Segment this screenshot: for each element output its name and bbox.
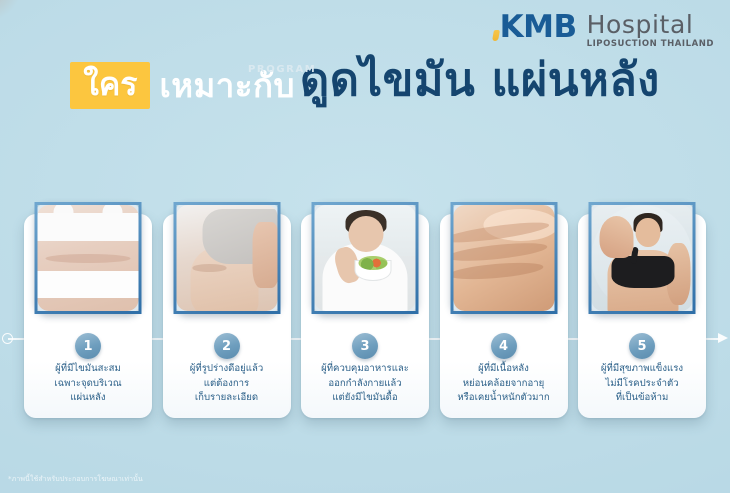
card-photo-frame (589, 202, 696, 314)
card-text: ผู้ที่มีเนื้อหลัง หย่อนคล้อยจากอายุ หรือ… (448, 362, 560, 406)
card-text-line: ผู้ที่มีไขมันสะสม (34, 362, 142, 377)
step-badge: 4 (491, 333, 517, 359)
headline-line-2: ดูดไขมัน แผ่นหลัง (300, 53, 660, 106)
card-text-line: ผู้ที่ควบคุมอาหารและ (311, 362, 419, 377)
page-title: ใคร เหมาะกับ PROGRAM ดูดไขมัน แผ่นหลัง (0, 52, 730, 109)
card-text-line: เก็บรายละเอียด (173, 391, 281, 406)
logo-mark: KMB (500, 10, 577, 44)
slim-back-side-photo (176, 205, 277, 311)
disclaimer-text: *ภาพนี้ใช้สำหรับประกอบการโฆษณาเท่านั้น (8, 474, 143, 485)
card-text-line: ผู้ที่มีเนื้อหลัง (450, 362, 558, 377)
card-text-line: แผ่นหลัง (34, 391, 142, 406)
logo-kmb-text: KMB (500, 10, 577, 44)
logo-tagline-text: LIPOSUCTION THAILAND (587, 39, 714, 49)
criteria-card-list: 1 ผู้ที่มีไขมันสะสม เฉพาะจุดบริเวณ แผ่นห… (24, 214, 706, 418)
card-text: ผู้ที่รูปร่างดีอยู่แล้ว แต่ต้องการ เก็บร… (171, 362, 283, 406)
step-badge: 1 (75, 333, 101, 359)
sagging-back-skin-photo (453, 205, 554, 311)
headline-kicker: PROGRAM (248, 64, 316, 75)
card-text-line: ที่เป็นข้อห้าม (588, 391, 696, 406)
back-fat-closeup-photo (38, 205, 139, 311)
card-photo-frame (450, 202, 557, 314)
card-text-line: ออกกำลังกายแล้ว (311, 377, 419, 392)
card-text: ผู้ที่ควบคุมอาหารและ ออกกำลังกายแล้ว แต่… (309, 362, 421, 406)
card-text: ผู้ที่มีสุขภาพแข็งแรง ไม่มีโรคประจำตัว ท… (586, 362, 698, 406)
poster-canvas: KMB Hospital LIPOSUCTION THAILAND ใคร เห… (0, 0, 730, 493)
card-photo-frame (35, 202, 142, 314)
step-badge: 3 (352, 333, 378, 359)
woman-flexing-arm-photo (592, 205, 693, 311)
card-text-line: แต่ยังมีไขมันดื้อ (311, 391, 419, 406)
card-text-line: ผู้ที่มีสุขภาพแข็งแรง (588, 362, 696, 377)
card-text: ผู้ที่มีไขมันสะสม เฉพาะจุดบริเวณ แผ่นหลั… (32, 362, 144, 406)
step-badge: 5 (629, 333, 655, 359)
headline-highlight: ใคร (70, 62, 150, 109)
criteria-card[interactable]: 1 ผู้ที่มีไขมันสะสม เฉพาะจุดบริเวณ แผ่นห… (24, 214, 152, 418)
card-text-line: แต่ต้องการ (173, 377, 281, 392)
card-text-line: หรือเคยน้ำหนักตัวมาก (450, 391, 558, 406)
card-photo-frame (173, 202, 280, 314)
criteria-card[interactable]: 3 ผู้ที่ควบคุมอาหารและ ออกกำลังกายแล้ว แ… (301, 214, 429, 418)
circle-node-icon (2, 333, 13, 344)
arrow-right-icon (718, 333, 728, 343)
criteria-card[interactable]: 2 ผู้ที่รูปร่างดีอยู่แล้ว แต่ต้องการ เก็… (163, 214, 291, 418)
brand-logo: KMB Hospital LIPOSUCTION THAILAND (500, 10, 714, 49)
card-photo-frame (312, 202, 419, 314)
headline-line-2-wrap: PROGRAM ดูดไขมัน แผ่นหลัง (300, 56, 660, 103)
logo-wordmark: Hospital LIPOSUCTION THAILAND (587, 10, 714, 49)
card-text-line: หย่อนคล้อยจากอายุ (450, 377, 558, 392)
step-badge: 2 (214, 333, 240, 359)
card-text-line: ไม่มีโรคประจำตัว (588, 377, 696, 392)
logo-hospital-text: Hospital (587, 12, 714, 38)
criteria-card[interactable]: 4 ผู้ที่มีเนื้อหลัง หย่อนคล้อยจากอายุ หร… (440, 214, 568, 418)
gold-accent-dot-icon (492, 30, 500, 41)
criteria-card[interactable]: 5 ผู้ที่มีสุขภาพแข็งแรง ไม่มีโรคประจำตัว… (578, 214, 706, 418)
woman-eating-salad-photo (315, 205, 416, 311)
corner-vignette (0, 0, 22, 22)
card-text-line: เฉพาะจุดบริเวณ (34, 377, 142, 392)
card-text-line: ผู้ที่รูปร่างดีอยู่แล้ว (173, 362, 281, 377)
